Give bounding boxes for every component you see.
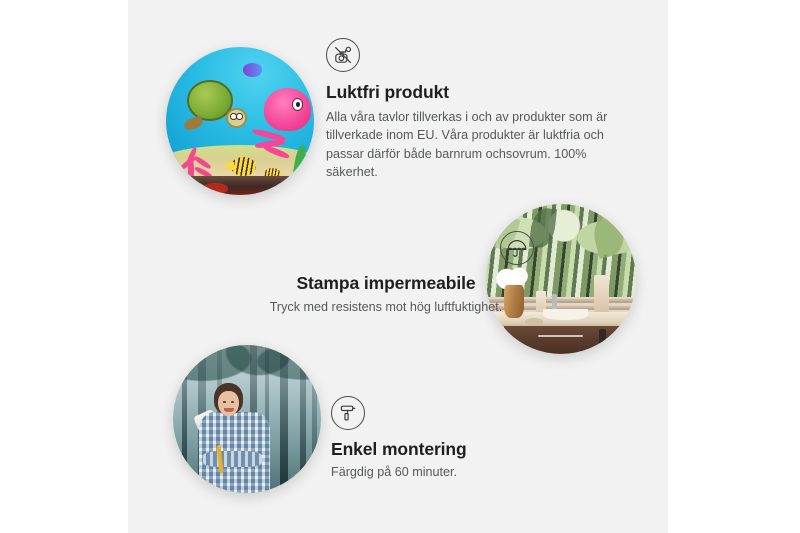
feature-block-easy-assembly: Enkel montering Färgdig på 60 minuter. <box>331 396 631 481</box>
yellow-striped-fish <box>231 157 256 176</box>
feature-description: Färgdig på 60 minuter. <box>331 463 631 481</box>
umbrella-icon <box>500 231 534 265</box>
woman-painter <box>194 383 274 493</box>
feature-title: Enkel montering <box>331 439 631 460</box>
sea-turtle <box>182 80 244 130</box>
octopus <box>252 88 311 153</box>
product-feature-infographic: Luktfri produkt Alla våra tavlor tillver… <box>0 0 800 533</box>
underwater-cartoon-wallpaper-disc <box>166 47 314 195</box>
paint-roller-icon <box>331 396 365 430</box>
purple-fish <box>243 63 262 76</box>
soap-bottle-right <box>594 275 609 314</box>
feature-title: Stampa impermeabile <box>216 273 556 294</box>
infographic-canvas: Luktfri produkt Alla våra tavlor tillver… <box>128 0 668 533</box>
wooden-vanity-cabinet <box>504 326 636 355</box>
no-fragrance-icon <box>326 38 360 72</box>
woman-painter-forest-wallpaper-disc <box>173 345 321 493</box>
feature-description: Tryck med resistens mot hög luftfuktighe… <box>216 298 556 316</box>
feature-block-waterproof: Stampa impermeabile Tryck med resistens … <box>216 231 556 316</box>
feature-title: Luktfri produkt <box>326 82 626 103</box>
bottom-photo-strip <box>166 176 314 195</box>
feature-block-odourless: Luktfri produkt Alla våra tavlor tillver… <box>326 38 626 181</box>
soap-dish <box>525 318 543 326</box>
feature-description: Alla våra tavlor tillverkas i och av pro… <box>326 108 626 181</box>
